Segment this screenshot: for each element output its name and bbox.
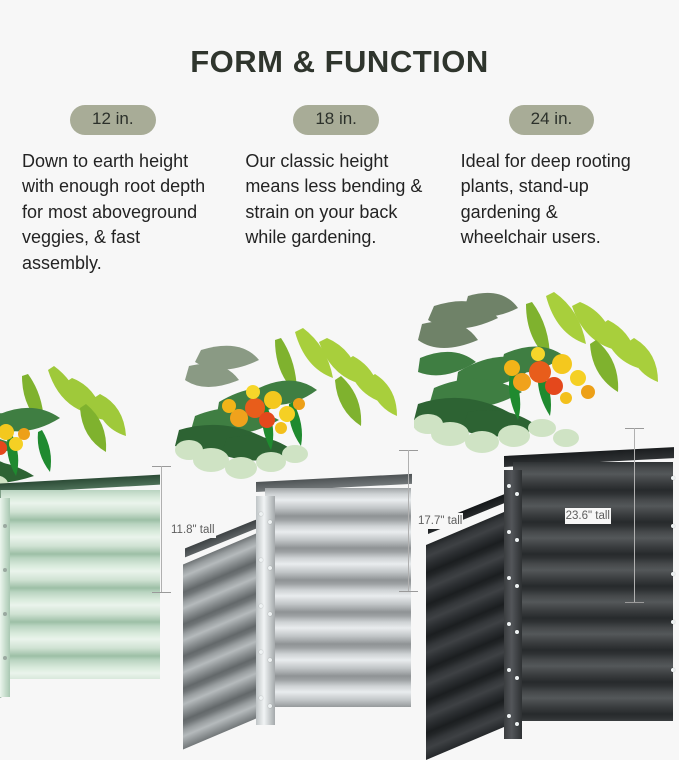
planter-front-panel-18in <box>265 488 411 707</box>
rivet <box>259 558 263 562</box>
planter-top-rim-12in <box>0 475 160 494</box>
flowers-12in <box>0 418 30 456</box>
rivet <box>268 612 272 616</box>
planter-inner-rim-18in <box>185 516 265 557</box>
rivet <box>515 492 519 496</box>
rivet <box>3 656 7 660</box>
badge-row-12in: 12 in. <box>22 105 212 135</box>
rivet <box>259 696 263 700</box>
product-image-scene: 11.8" tall 17.7" tall 23.6" tall <box>0 0 679 679</box>
dimension-cap-bottom <box>152 592 171 593</box>
dimension-cap-top <box>399 450 418 451</box>
dimension-line <box>634 428 635 603</box>
rivet <box>507 484 511 488</box>
foliage-18in <box>171 322 431 497</box>
foliage-24in <box>414 288 679 468</box>
flowers-18in <box>222 385 305 434</box>
rivet <box>507 530 511 534</box>
badge-row-24in: 24 in. <box>461 105 649 135</box>
rivet <box>268 658 272 662</box>
rivet <box>515 722 519 726</box>
rivet <box>671 572 675 576</box>
rivet <box>671 476 675 480</box>
rivet <box>259 604 263 608</box>
dimension-line <box>408 450 409 592</box>
planter-bed-24in <box>428 358 678 679</box>
flowers-24in <box>504 347 595 404</box>
planter-corner-post-12in <box>0 498 10 697</box>
rivet <box>507 714 511 718</box>
rivet <box>268 704 272 708</box>
planter-side-panel-24in <box>426 506 518 760</box>
dimension-cap-bottom <box>399 591 418 592</box>
feature-columns: 12 in. Down to earth height with enough … <box>0 105 679 276</box>
rivet <box>259 512 263 516</box>
planter-corner-post-24in <box>504 470 522 739</box>
rivet <box>3 612 7 616</box>
planter-corner-post-18in <box>256 496 275 725</box>
planter-top-rim-24in <box>504 447 674 467</box>
rivet <box>671 620 675 624</box>
planter-side-panel-12in <box>0 538 2 733</box>
rivet <box>515 584 519 588</box>
height-badge-24in: 24 in. <box>509 105 595 135</box>
rivet <box>515 676 519 680</box>
planter-bed-12in <box>0 418 164 679</box>
planter-side-panel-18in <box>183 528 269 750</box>
rivet <box>671 524 675 528</box>
planter-inner-rim-24in <box>428 491 512 534</box>
planter-front-panel-12in <box>0 490 160 679</box>
rivet <box>268 520 272 524</box>
feature-description-12in: Down to earth height with enough root de… <box>22 149 212 277</box>
dimension-label-18in: 17.7" tall <box>417 513 463 529</box>
rivet <box>3 568 7 572</box>
rivet <box>515 538 519 542</box>
rivet <box>507 668 511 672</box>
rivet <box>515 630 519 634</box>
rivet <box>259 650 263 654</box>
dimension-cap-top <box>152 466 171 467</box>
feature-column-24in: 24 in. Ideal for deep rooting plants, st… <box>449 105 667 276</box>
rivet <box>268 566 272 570</box>
rivet <box>507 576 511 580</box>
dimension-line <box>161 466 162 593</box>
dimension-cap-top <box>625 428 644 429</box>
planter-front-panel-24in <box>513 462 673 721</box>
feature-column-18in: 18 in. Our classic height means less ben… <box>230 105 448 276</box>
feature-description-24in: Ideal for deep rooting plants, stand-up … <box>461 149 641 251</box>
feature-column-12in: 12 in. Down to earth height with enough … <box>12 105 230 276</box>
rivet <box>507 622 511 626</box>
planter-bed-18in <box>193 388 403 679</box>
foliage-12in <box>0 356 174 516</box>
badge-row-18in: 18 in. <box>245 105 430 135</box>
dimension-label-24in: 23.6" tall <box>565 508 611 524</box>
height-badge-18in: 18 in. <box>293 105 379 135</box>
dimension-label-12in: 11.8" tall <box>170 522 216 538</box>
height-badge-12in: 12 in. <box>70 105 156 135</box>
rivet <box>671 668 675 672</box>
rivet <box>3 524 7 528</box>
feature-description-18in: Our classic height means less bending & … <box>245 149 430 251</box>
dimension-cap-bottom <box>625 602 644 603</box>
page-title: FORM & FUNCTION <box>0 0 679 80</box>
planter-top-rim-18in <box>256 474 412 492</box>
